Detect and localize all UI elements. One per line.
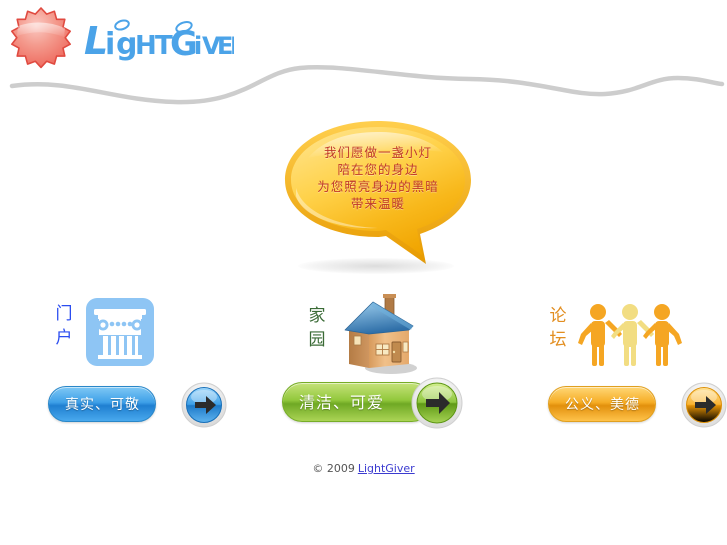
column-icon <box>86 298 154 366</box>
bubble-text: 我们愿做一盏小灯 陪在您的身边 为您照亮身边的黑暗 带来温暖 <box>292 144 464 212</box>
svg-text:i: i <box>105 27 115 62</box>
arrow-right-icon[interactable] <box>181 382 227 428</box>
house-icon <box>333 288 425 376</box>
wave-divider <box>0 58 727 106</box>
forum-cta-button[interactable]: 公义、美德 <box>548 386 656 422</box>
svg-text:R: R <box>230 32 234 60</box>
section-forum-header: 论坛 <box>530 288 720 378</box>
portal-cta-label: 真实、可敬 <box>65 387 140 423</box>
svg-text:H: H <box>135 31 157 61</box>
arrow-right-icon[interactable] <box>411 377 463 429</box>
portal-cta-button[interactable]: 真实、可敬 <box>48 386 156 422</box>
home-cta-button[interactable]: 清洁、可爱 <box>282 382 432 422</box>
bubble-drop-shadow <box>298 258 454 274</box>
site-header: L i g H T G i V E R <box>0 0 727 100</box>
forum-cta-label: 公义、美德 <box>565 387 640 423</box>
section-portal: 门户 <box>40 288 240 378</box>
footer-brand-link[interactable]: LightGiver <box>358 462 415 475</box>
home-cta-label: 清洁、可爱 <box>299 383 384 423</box>
site-footer: © 2009LightGiver <box>0 462 727 475</box>
section-portal-label: 门户 <box>53 302 75 350</box>
section-home-label: 家园 <box>306 304 328 352</box>
section-home-header: 家园 <box>278 288 483 378</box>
arrow-right-icon[interactable] <box>681 382 727 428</box>
section-portal-header: 门户 <box>40 288 240 378</box>
section-forum: 论坛 <box>530 288 720 378</box>
section-home: 家园 <box>278 288 483 378</box>
people-group-icon <box>578 300 682 370</box>
section-forum-label: 论坛 <box>547 304 569 352</box>
copyright-text: © 2009 <box>312 462 355 475</box>
svg-text:i: i <box>194 32 202 60</box>
hero-speech-bubble: 我们愿做一盏小灯 陪在您的身边 为您照亮身边的黑暗 带来温暖 <box>278 118 478 268</box>
